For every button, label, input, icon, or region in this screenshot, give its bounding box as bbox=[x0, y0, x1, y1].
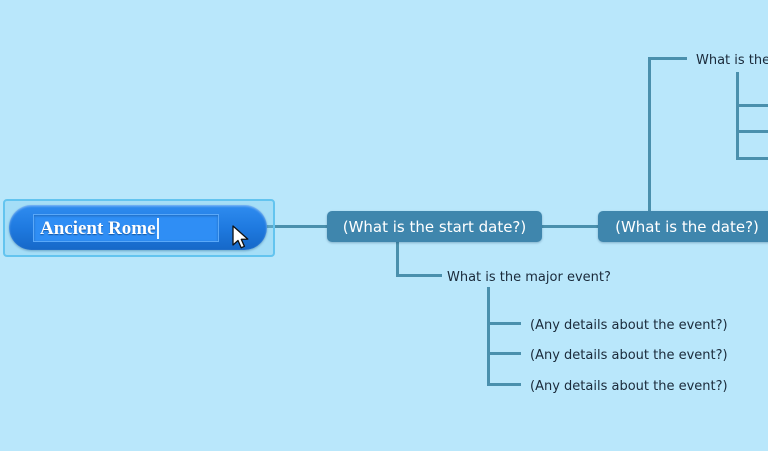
connector-date-rise bbox=[648, 57, 651, 211]
connector-to-top-branch bbox=[648, 57, 687, 60]
connector-top-branch-stub-2 bbox=[736, 130, 768, 133]
root-node-label: Ancient Rome bbox=[40, 219, 156, 238]
node-top-branch[interactable]: What is the bbox=[696, 54, 768, 67]
connector-start-date-drop bbox=[396, 242, 399, 277]
node-detail-3[interactable]: (Any details about the event?) bbox=[530, 380, 728, 393]
connector-detail-stub-1 bbox=[487, 322, 521, 325]
mindmap-canvas[interactable]: Ancient Rome (What is the start date?) (… bbox=[0, 0, 768, 451]
connector-start-date-to-date bbox=[542, 225, 600, 228]
root-node-text-input[interactable]: Ancient Rome bbox=[33, 214, 219, 242]
root-node[interactable]: Ancient Rome bbox=[3, 199, 275, 257]
connector-detail-stub-3 bbox=[487, 383, 521, 386]
node-major-event[interactable]: What is the major event? bbox=[447, 271, 611, 284]
connector-to-major-event bbox=[396, 274, 442, 277]
node-date[interactable]: (What is the date?) bbox=[598, 211, 768, 242]
text-caret bbox=[157, 218, 159, 239]
node-detail-2[interactable]: (Any details about the event?) bbox=[530, 349, 728, 362]
connector-top-branch-spine bbox=[736, 72, 739, 160]
node-detail-1[interactable]: (Any details about the event?) bbox=[530, 319, 728, 332]
connector-top-branch-stub-1 bbox=[736, 104, 768, 107]
node-start-date[interactable]: (What is the start date?) bbox=[327, 211, 542, 242]
connector-top-branch-stub-3 bbox=[736, 157, 768, 160]
connector-detail-stub-2 bbox=[487, 352, 521, 355]
connector-major-event-spine bbox=[487, 287, 490, 386]
root-node-pill[interactable]: Ancient Rome bbox=[9, 205, 267, 250]
